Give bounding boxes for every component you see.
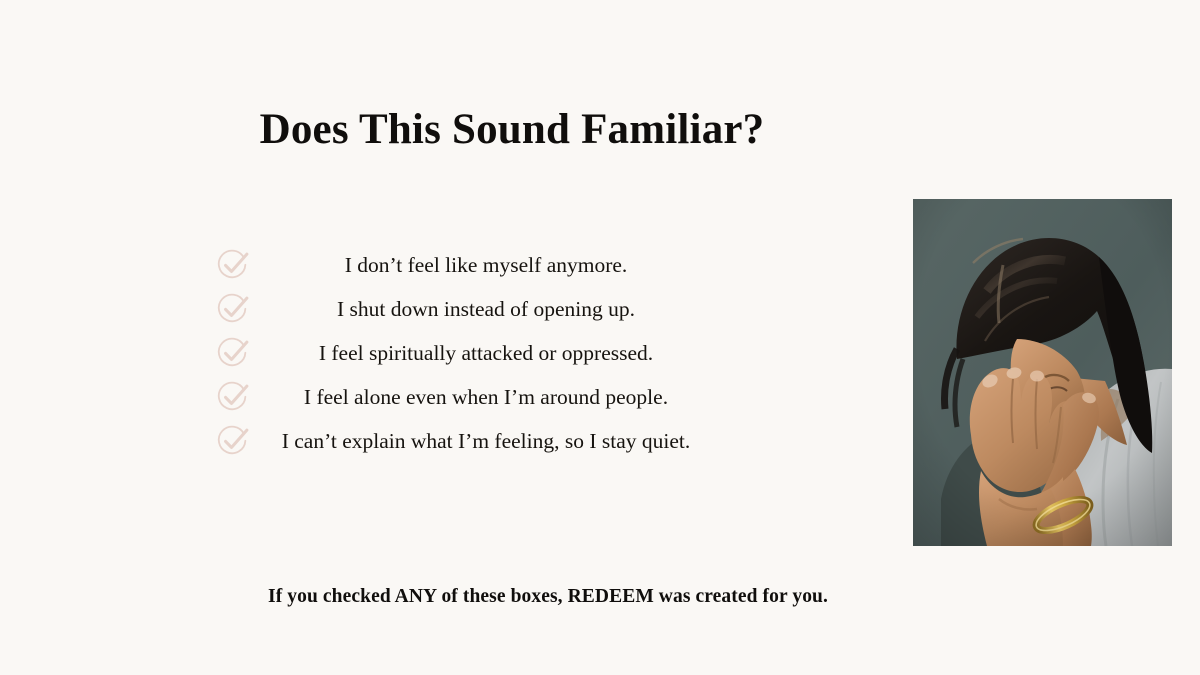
list-item[interactable]: I shut down instead of opening up.	[214, 287, 714, 331]
check-circle-icon	[214, 422, 252, 460]
page-title: Does This Sound Familiar?	[0, 106, 1024, 153]
list-item[interactable]: I can’t explain what I’m feeling, so I s…	[214, 419, 714, 463]
check-circle-icon	[214, 290, 252, 328]
list-item-label: I feel spiritually attacked or oppressed…	[214, 341, 714, 366]
check-circle-icon	[214, 246, 252, 284]
list-item-label: I don’t feel like myself anymore.	[214, 253, 714, 278]
list-item[interactable]: I feel alone even when I’m around people…	[214, 375, 714, 419]
check-circle-icon	[214, 378, 252, 416]
list-item[interactable]: I don’t feel like myself anymore.	[214, 243, 714, 287]
slide-canvas: Does This Sound Familiar? I don’t feel l…	[0, 0, 1200, 675]
slide-photo	[913, 199, 1172, 546]
list-item-label: I shut down instead of opening up.	[214, 297, 714, 322]
list-item-label: I can’t explain what I’m feeling, so I s…	[214, 429, 714, 454]
list-item-label: I feel alone even when I’m around people…	[214, 385, 714, 410]
list-item[interactable]: I feel spiritually attacked or oppressed…	[214, 331, 714, 375]
closing-caption: If you checked ANY of these boxes, REDEE…	[0, 586, 1096, 608]
checklist: I don’t feel like myself anymore. I shut…	[214, 243, 714, 463]
check-circle-icon	[214, 334, 252, 372]
